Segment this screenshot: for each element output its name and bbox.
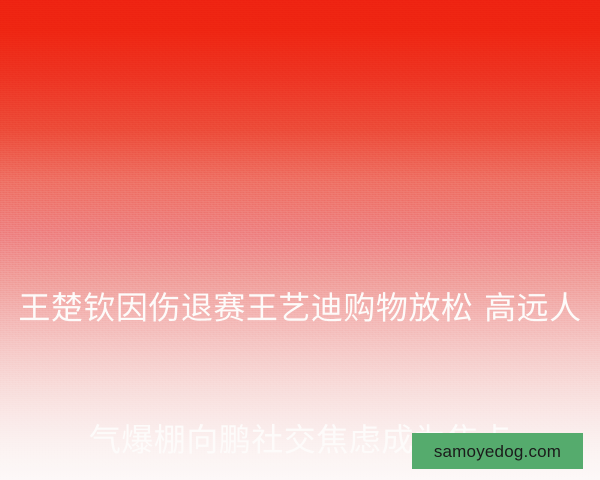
headline-line-1: 王楚钦因伤退赛王艺迪购物放松 高远人	[0, 286, 600, 330]
watermark-badge[interactable]: samoyedog.com	[412, 433, 583, 469]
watermark-label: samoyedog.com	[434, 443, 561, 460]
poster-canvas: 王楚钦因伤退赛王艺迪购物放松 高远人 气爆棚向鹏社交焦虑成为焦点 samoyed…	[0, 0, 600, 480]
